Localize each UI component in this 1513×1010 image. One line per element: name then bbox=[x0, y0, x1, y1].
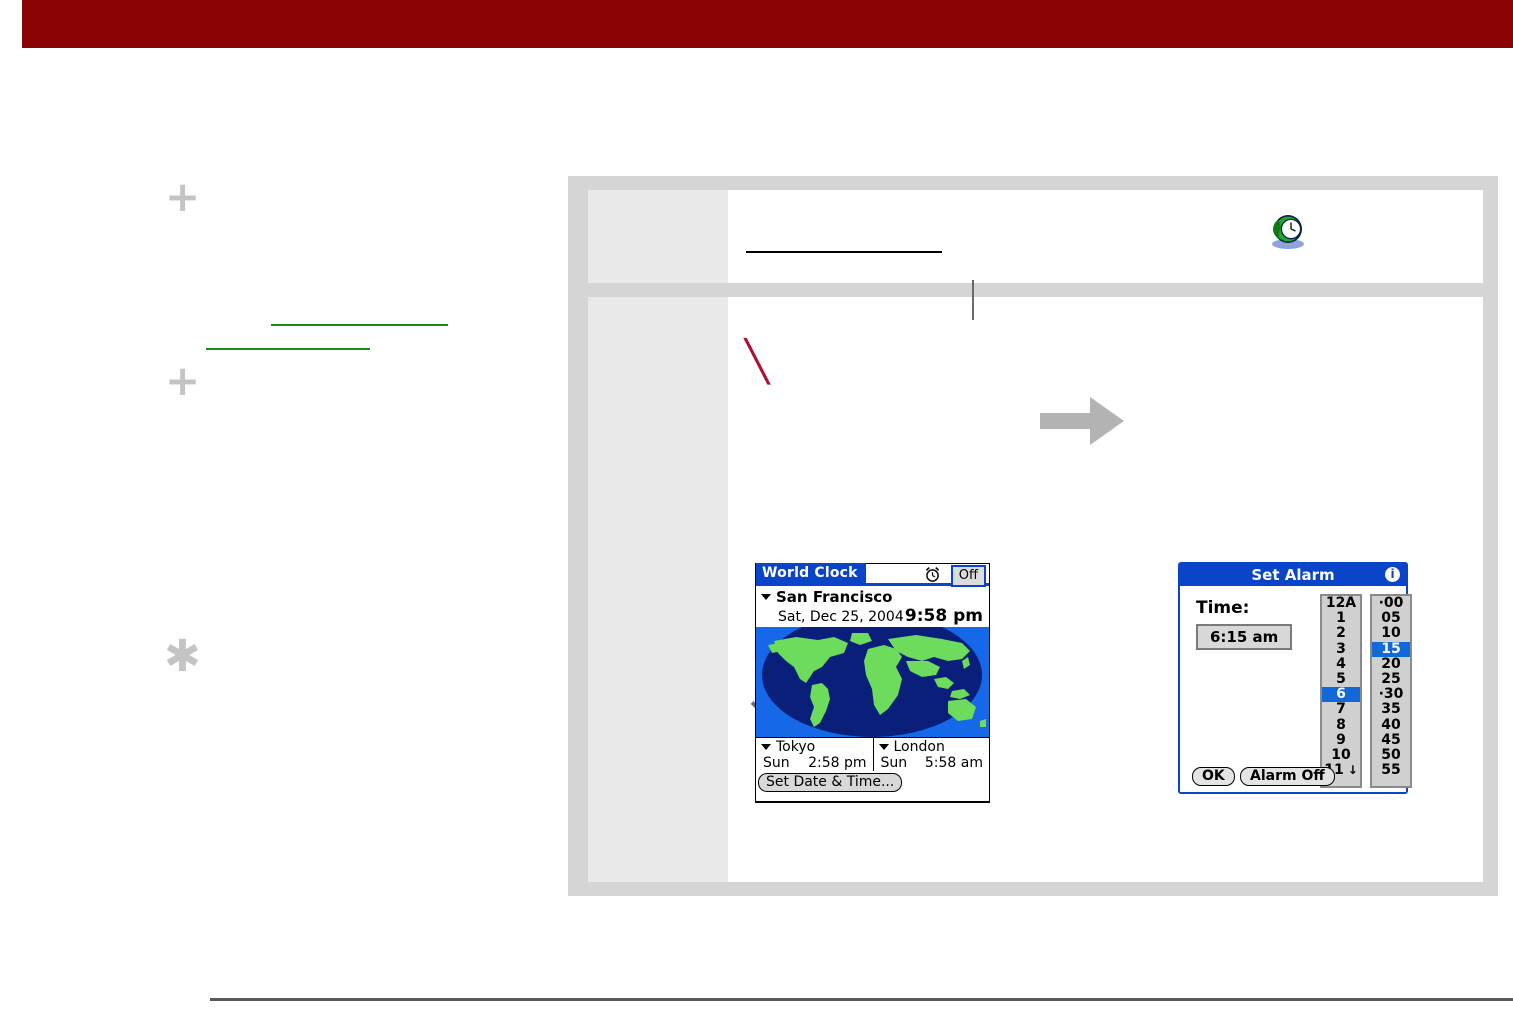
secondary-city-2[interactable]: London Sun 5:58 am bbox=[873, 738, 990, 771]
cross-reference-link-2[interactable] bbox=[206, 348, 370, 350]
secondary-city-2-day: Sun bbox=[881, 755, 908, 771]
minute-cell[interactable]: 20 bbox=[1372, 657, 1410, 672]
minute-cell[interactable]: 35 bbox=[1372, 702, 1410, 717]
minute-cell[interactable]: ·00 bbox=[1372, 596, 1410, 611]
chevron-down-icon-city1[interactable] bbox=[761, 744, 771, 750]
brand-header-bar bbox=[22, 0, 1513, 48]
tip-plus-icon-1: + bbox=[165, 176, 200, 218]
tip-plus-icon-2: + bbox=[165, 360, 200, 402]
scroll-down-arrow-icon[interactable]: ↓ bbox=[1348, 763, 1358, 778]
hour-picker[interactable]: 12A 1 2 3 4 5 6 7 8 9 10 11 ↓ bbox=[1320, 594, 1362, 788]
set-alarm-title: Set Alarm bbox=[1251, 566, 1334, 584]
primary-time: 9:58 pm bbox=[905, 606, 983, 626]
secondary-city-1-day: Sun bbox=[763, 755, 790, 771]
minute-cell[interactable]: 05 bbox=[1372, 611, 1410, 626]
hour-cell[interactable]: 7 bbox=[1322, 702, 1360, 717]
row-step-number-gutter bbox=[588, 190, 728, 283]
hour-cell[interactable]: 4 bbox=[1322, 657, 1360, 672]
alarm-time-value[interactable]: 6:15 am bbox=[1196, 624, 1292, 650]
world-map bbox=[756, 627, 989, 737]
hour-cell[interactable]: 3 bbox=[1322, 642, 1360, 657]
world-map-graphic bbox=[756, 627, 989, 737]
minute-cell[interactable]: 10 bbox=[1372, 626, 1410, 641]
sidebar: + + ✱ bbox=[0, 48, 560, 948]
minute-picker[interactable]: ·00 05 10 15 20 25 ·30 35 40 45 50 55 bbox=[1370, 594, 1412, 788]
hour-cell[interactable]: 8 bbox=[1322, 718, 1360, 733]
world-clock-title-bar: World Clock Off bbox=[756, 564, 989, 586]
time-label: Time: bbox=[1196, 598, 1249, 618]
hour-cell[interactable]: 12A bbox=[1322, 596, 1360, 611]
chevron-down-icon-city2[interactable] bbox=[879, 744, 889, 750]
row-step-number-gutter-2 bbox=[588, 297, 728, 882]
chevron-down-icon[interactable] bbox=[761, 594, 771, 600]
tip-star-icon: ✱ bbox=[164, 635, 201, 679]
row-step-body bbox=[728, 190, 1483, 283]
hour-cell-selected[interactable]: 6 bbox=[1322, 687, 1360, 702]
right-arrow-icon bbox=[1038, 391, 1128, 451]
content-row-step-1 bbox=[588, 190, 1483, 283]
footer-rule bbox=[210, 998, 1513, 1001]
minute-cell[interactable]: ·30 bbox=[1372, 687, 1410, 702]
secondary-city-1-label: Tokyo bbox=[776, 739, 815, 755]
secondary-cities: Tokyo Sun 2:58 pm London Sun 5:58 am bbox=[756, 737, 989, 771]
page-root: + + ✱ bbox=[0, 0, 1513, 1010]
hour-cell[interactable]: 10 bbox=[1322, 748, 1360, 763]
set-alarm-title-bar: Set Alarm i bbox=[1180, 564, 1406, 586]
primary-city-label: San Francisco bbox=[776, 588, 892, 606]
world-clock-screen: World Clock Off San Francisco Sat, Dec 2… bbox=[755, 563, 990, 803]
minute-cell[interactable]: 25 bbox=[1372, 672, 1410, 687]
alarm-clock-icon[interactable] bbox=[924, 566, 941, 583]
primary-date-time-row: Sat, Dec 25, 2004 9:58 pm bbox=[756, 606, 989, 627]
inline-emphasis-rule bbox=[746, 251, 942, 253]
set-alarm-dialog: Set Alarm i Time: 6:15 am 12A 1 2 3 4 5 … bbox=[1178, 562, 1408, 794]
secondary-city-2-label: London bbox=[894, 739, 945, 755]
secondary-city-1-time: 2:58 pm bbox=[808, 755, 866, 771]
palm-note-glyph-icon: ╲ bbox=[745, 342, 769, 382]
alarm-toggle-button[interactable]: Off bbox=[951, 565, 986, 587]
hour-cell[interactable]: 2 bbox=[1322, 626, 1360, 641]
secondary-city-1[interactable]: Tokyo Sun 2:58 pm bbox=[756, 738, 873, 771]
minute-cell[interactable]: 40 bbox=[1372, 718, 1410, 733]
alarm-off-button[interactable]: Alarm Off bbox=[1240, 767, 1335, 786]
set-alarm-body: Time: 6:15 am 12A 1 2 3 4 5 6 7 8 9 10 1… bbox=[1180, 586, 1406, 792]
hour-cell[interactable]: 5 bbox=[1322, 672, 1360, 687]
primary-city-row[interactable]: San Francisco bbox=[756, 586, 989, 606]
ok-button[interactable]: OK bbox=[1192, 767, 1235, 786]
hour-cell[interactable]: 9 bbox=[1322, 733, 1360, 748]
callout-leader-line bbox=[972, 280, 974, 320]
primary-date: Sat, Dec 25, 2004 bbox=[778, 609, 904, 625]
hour-cell[interactable]: 1 bbox=[1322, 611, 1360, 626]
minute-cell-selected[interactable]: 15 bbox=[1372, 642, 1410, 657]
minute-cell[interactable]: 55 bbox=[1372, 763, 1410, 778]
info-icon[interactable]: i bbox=[1385, 567, 1400, 582]
world-clock-icon bbox=[1266, 212, 1310, 252]
set-date-time-button[interactable]: Set Date & Time... bbox=[758, 773, 902, 792]
minute-cell[interactable]: 45 bbox=[1372, 733, 1410, 748]
minute-cell[interactable]: 50 bbox=[1372, 748, 1410, 763]
secondary-city-2-time: 5:58 am bbox=[925, 755, 983, 771]
world-clock-title: World Clock bbox=[756, 563, 866, 584]
cross-reference-link-1[interactable] bbox=[271, 324, 448, 326]
